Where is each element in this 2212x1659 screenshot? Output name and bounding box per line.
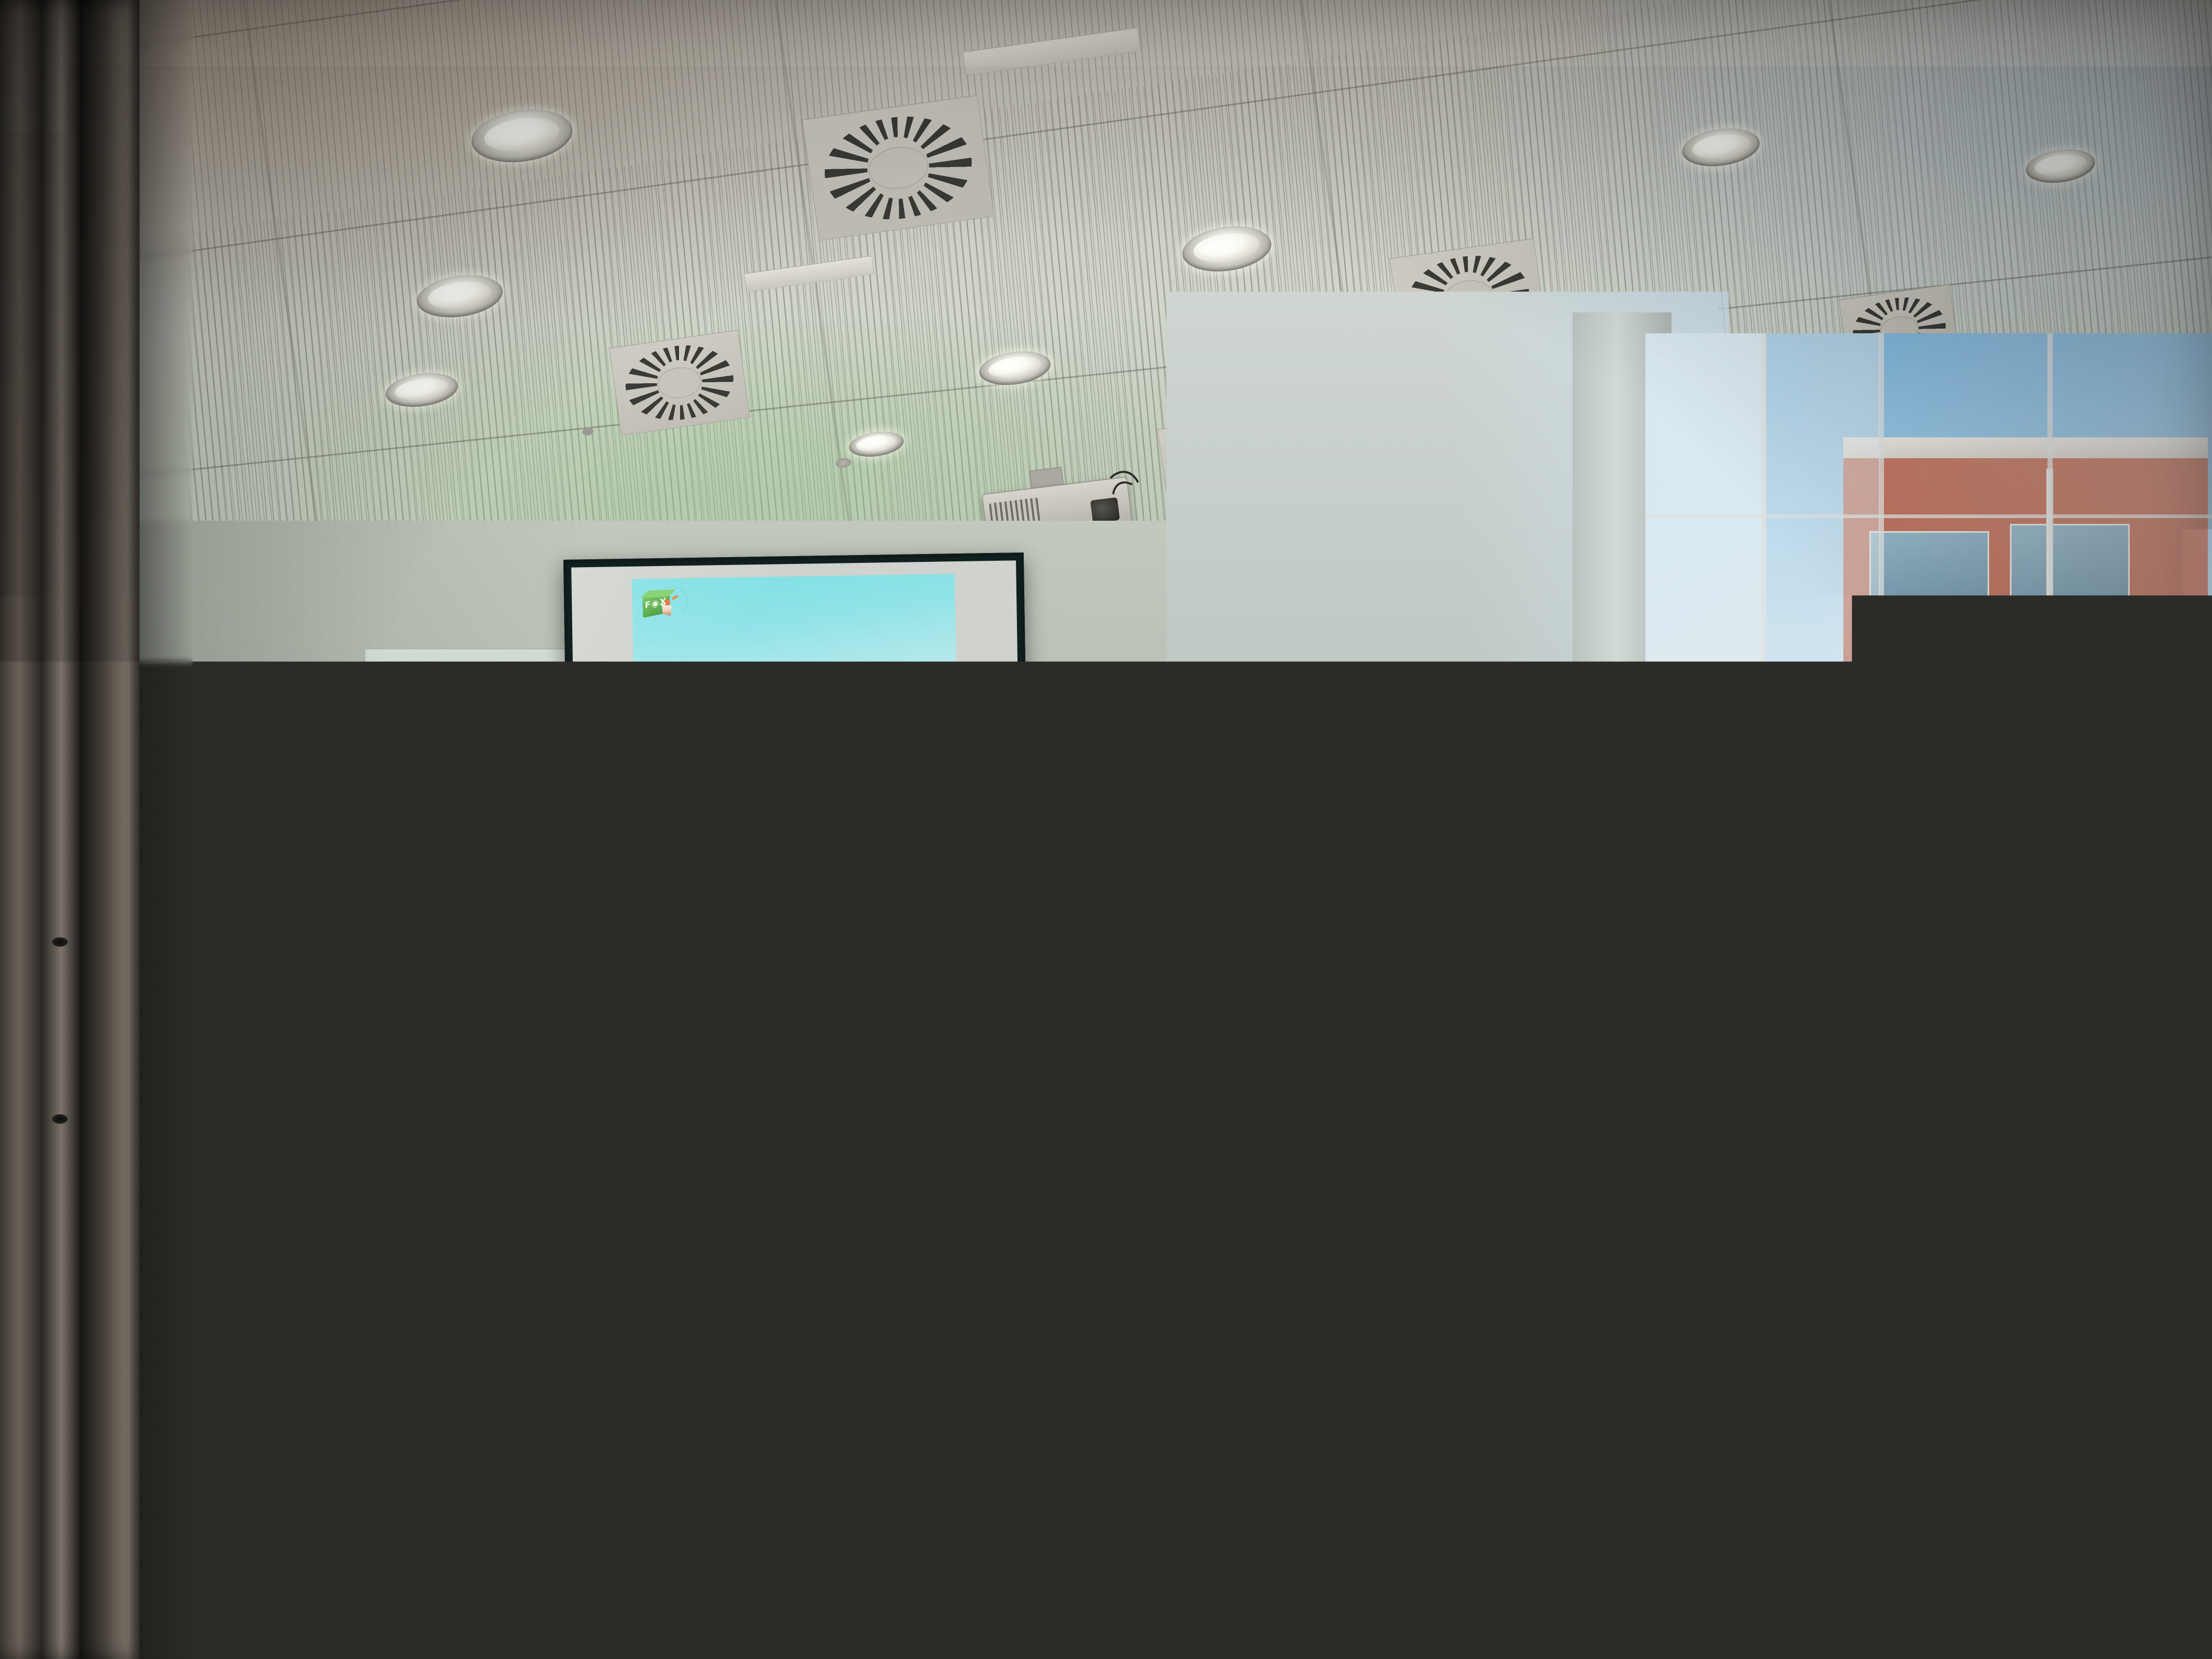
ainia-logo: ainia	[397, 681, 474, 714]
slide-title: SEGMENT IMPACT	[633, 665, 957, 692]
water-bottle	[2010, 1078, 2030, 1148]
papers	[1525, 1039, 1615, 1094]
face-mask	[1441, 889, 1467, 912]
face-mask	[479, 855, 498, 870]
slide-footer: This project has received funding from t…	[680, 803, 948, 816]
bitacora-logo: bitác◌ra	[1037, 811, 1211, 819]
presentation-slide: F◉X SEGMENT IMPACT FC3 scenarios and bus…	[632, 574, 958, 824]
chair[interactable]	[1644, 1060, 1756, 1137]
face-mask	[1056, 864, 1079, 880]
poster-subtitle: NUESTROS VALORES	[1037, 708, 1211, 712]
face-mask	[1814, 856, 1836, 872]
bitacora-caption: programa de transformación cultural	[1037, 822, 1211, 824]
fox-project-logo: F◉X	[640, 586, 687, 625]
banner-arc-label: food processing in a box	[249, 731, 307, 809]
poster-column-right: ❤CONFIANZA Y CERCANÍA Comunicar con clar…	[1152, 723, 1204, 799]
screen-surface: F◉X SEGMENT IMPACT FC3 scenarios and bus…	[571, 560, 1020, 827]
glass-bolt-icon	[389, 663, 398, 672]
door-frame	[0, 0, 140, 1659]
water-bottle	[1640, 932, 1655, 982]
heart-icon: ❤	[1121, 740, 1127, 749]
red-jacket	[2036, 1318, 2166, 1482]
draped-jacket	[1808, 1053, 1987, 1197]
smartphone[interactable]	[1697, 1190, 1777, 1223]
photo-scene: ainia food processing in a box CAL OR A …	[0, 0, 2212, 1659]
projection-screen: F◉X SEGMENT IMPACT FC3 scenarios and bus…	[563, 552, 1028, 836]
papers	[1544, 839, 1643, 915]
poster-bitacora-caption-top: Un estilo de trabajo, una forma de ser	[1037, 806, 1211, 809]
chair[interactable]	[1706, 1248, 1840, 1356]
water-bottle	[1750, 1104, 1770, 1177]
water-bottle	[870, 916, 884, 966]
values-poster: ainia NUESTROS VALORES ❤ ❤ACTITUD POSITI…	[1036, 683, 1211, 839]
hands-circle-icon: ❤	[1098, 720, 1149, 771]
hvac-vent-icon	[802, 95, 994, 241]
eu-funding-disclaimer: This project has received funding from t…	[698, 809, 843, 813]
water-bottle	[552, 961, 568, 1015]
smartphone[interactable]	[1999, 1154, 2073, 1183]
slide-bullet-list: FC3 scenarios and business model activit…	[670, 712, 942, 798]
hvac-vent-icon	[609, 330, 750, 435]
water-bottle	[484, 927, 498, 975]
face-mask	[846, 840, 866, 856]
poster-column-left: ❤ACTITUD POSITIVA Afrontar los retos con…	[1043, 720, 1095, 782]
banner-arc-text: food processing in a box	[249, 731, 307, 809]
smartphone[interactable]	[228, 1495, 356, 1552]
poster-brand: ainia	[1037, 699, 1211, 706]
eu-flag-icon	[680, 808, 694, 816]
water-bottle	[785, 858, 798, 903]
water-bottle	[2046, 906, 2060, 953]
foreground-person-torso	[389, 1276, 985, 1659]
water-bottle	[1656, 1005, 1671, 1059]
water-bottle	[1250, 922, 1263, 970]
slide-bullet: Dissemination and communication to audie…	[691, 767, 942, 798]
water-bottle	[338, 1109, 356, 1172]
